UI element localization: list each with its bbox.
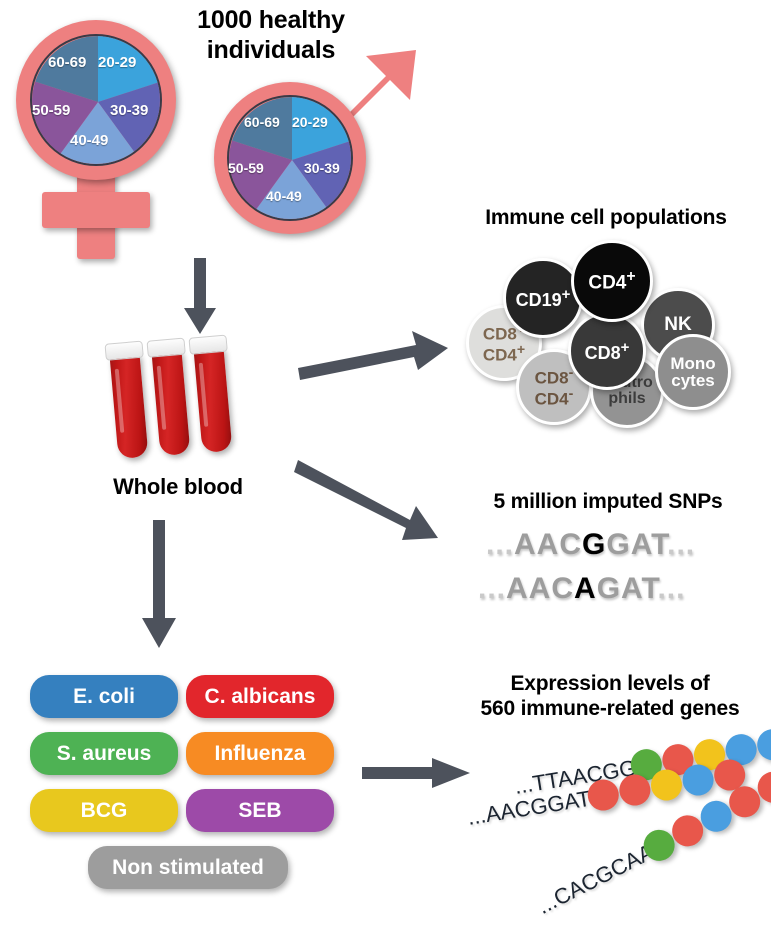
cell-label-superscript: + (517, 342, 525, 358)
cell-label-line: phils (601, 391, 653, 407)
figure-canvas: 1000 healthy individuals 20-29 30-39 40-… (0, 0, 771, 922)
cell-label: CD19+ (516, 287, 571, 309)
cell-label: CD8-CD4- (535, 366, 574, 408)
cell-label-line: CD4+ (483, 343, 525, 364)
cell-label-line: CD8+ (585, 340, 630, 362)
cell-label-line: cytes (670, 372, 715, 389)
cell-monocytes: Monocytes (655, 334, 731, 410)
cell-cd8: CD8+ (568, 312, 646, 390)
cell-label-line: CD19+ (516, 287, 571, 309)
cell-label: NK (664, 315, 691, 334)
cell-cd19: CD19+ (503, 258, 583, 338)
gene-expression-dot (649, 767, 684, 802)
cell-label-line: CD4+ (588, 269, 635, 293)
cell-label-superscript: + (626, 268, 635, 285)
cell-label-superscript: - (569, 386, 574, 402)
cell-label-superscript: + (621, 339, 630, 356)
cell-label-line: NK (664, 315, 691, 334)
cell-label: CD8+ (585, 340, 630, 362)
cell-label-line: Mono (670, 355, 715, 372)
gene-strands-group: ...TTAACGG...AACGGAT...CACGCAA (0, 0, 771, 922)
gene-expression-dot (680, 762, 715, 797)
cell-label-line: CD8- (535, 366, 574, 387)
gene-sequence-text: ...AACGGAT (466, 786, 593, 831)
gene-expression-dot (617, 772, 652, 807)
cell-label-line: CD4- (535, 387, 574, 408)
cell-label: CD4+ (588, 269, 635, 293)
cell-label-superscript: + (562, 286, 571, 303)
gene-sequence-text: ...CACGCAA (533, 839, 658, 920)
cell-label: Monocytes (670, 355, 715, 390)
cell-cd4: CD4+ (571, 240, 653, 322)
